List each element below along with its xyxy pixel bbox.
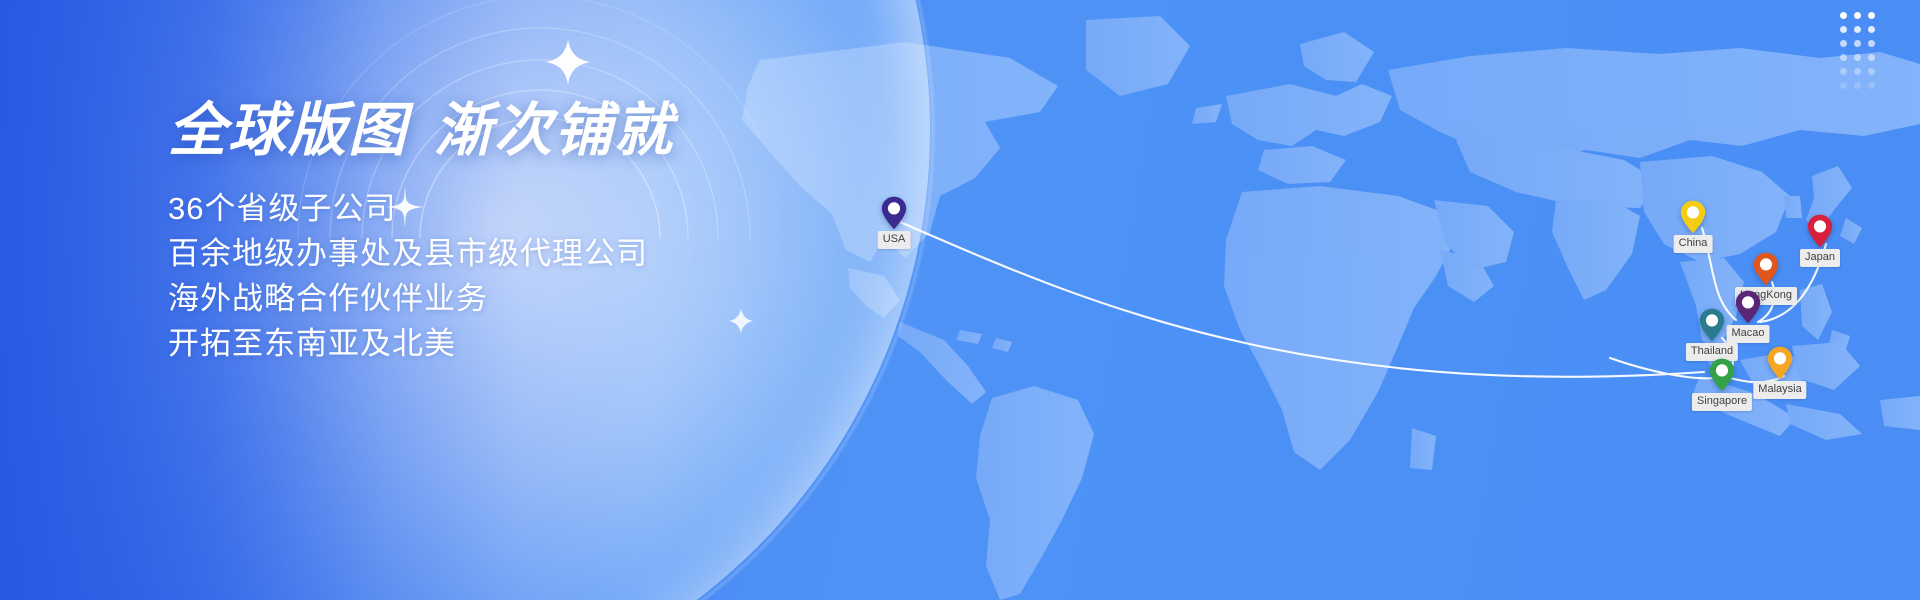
location-pin-icon <box>1735 290 1761 324</box>
map-pin-singapore[interactable]: Singapore <box>1709 358 1735 392</box>
map-pin-usa[interactable]: USA <box>881 196 907 230</box>
subtitle-list: 36个省级子公司 百余地级办事处及县市级代理公司 海外战略合作伙伴业务 开拓至东… <box>168 186 674 366</box>
location-pin-icon <box>1709 358 1735 392</box>
page-title: 全球版图渐次铺就 <box>168 96 674 166</box>
map-pin-japan[interactable]: Japan <box>1807 214 1833 248</box>
location-pin-icon <box>1807 214 1833 248</box>
map-pin-macao[interactable]: Macao <box>1735 290 1761 324</box>
map-pin-label: Macao <box>1726 325 1769 343</box>
map-pin-label: Singapore <box>1692 393 1752 411</box>
map-pin-thailand[interactable]: Thailand <box>1699 308 1725 342</box>
map-pin-hongkong[interactable]: HongKong <box>1753 252 1779 286</box>
location-pin-icon <box>881 196 907 230</box>
location-pin-icon <box>1767 346 1793 380</box>
map-pin-label: Japan <box>1800 249 1840 267</box>
headline-part-2: 渐次铺就 <box>434 98 674 163</box>
list-item: 开拓至东南亚及北美 <box>168 321 674 366</box>
copy-block: 全球版图渐次铺就 36个省级子公司 百余地级办事处及县市级代理公司 海外战略合作… <box>168 96 674 366</box>
map-pin-label: USA <box>878 231 911 249</box>
location-pin-icon <box>1680 200 1706 234</box>
location-pin-icon <box>1753 252 1779 286</box>
global-map-banner: 全球版图渐次铺就 36个省级子公司 百余地级办事处及县市级代理公司 海外战略合作… <box>0 0 1920 600</box>
list-item: 百余地级办事处及县市级代理公司 <box>168 231 674 276</box>
headline-part-1: 全球版图 <box>168 98 408 163</box>
list-item: 海外战略合作伙伴业务 <box>168 276 674 321</box>
map-pin-malaysia[interactable]: Malaysia <box>1767 346 1793 380</box>
list-item: 36个省级子公司 <box>168 186 674 231</box>
map-pin-china[interactable]: China <box>1680 200 1706 234</box>
map-pin-label: Malaysia <box>1753 381 1806 399</box>
location-pin-icon <box>1699 308 1725 342</box>
map-pin-label: China <box>1674 235 1713 253</box>
